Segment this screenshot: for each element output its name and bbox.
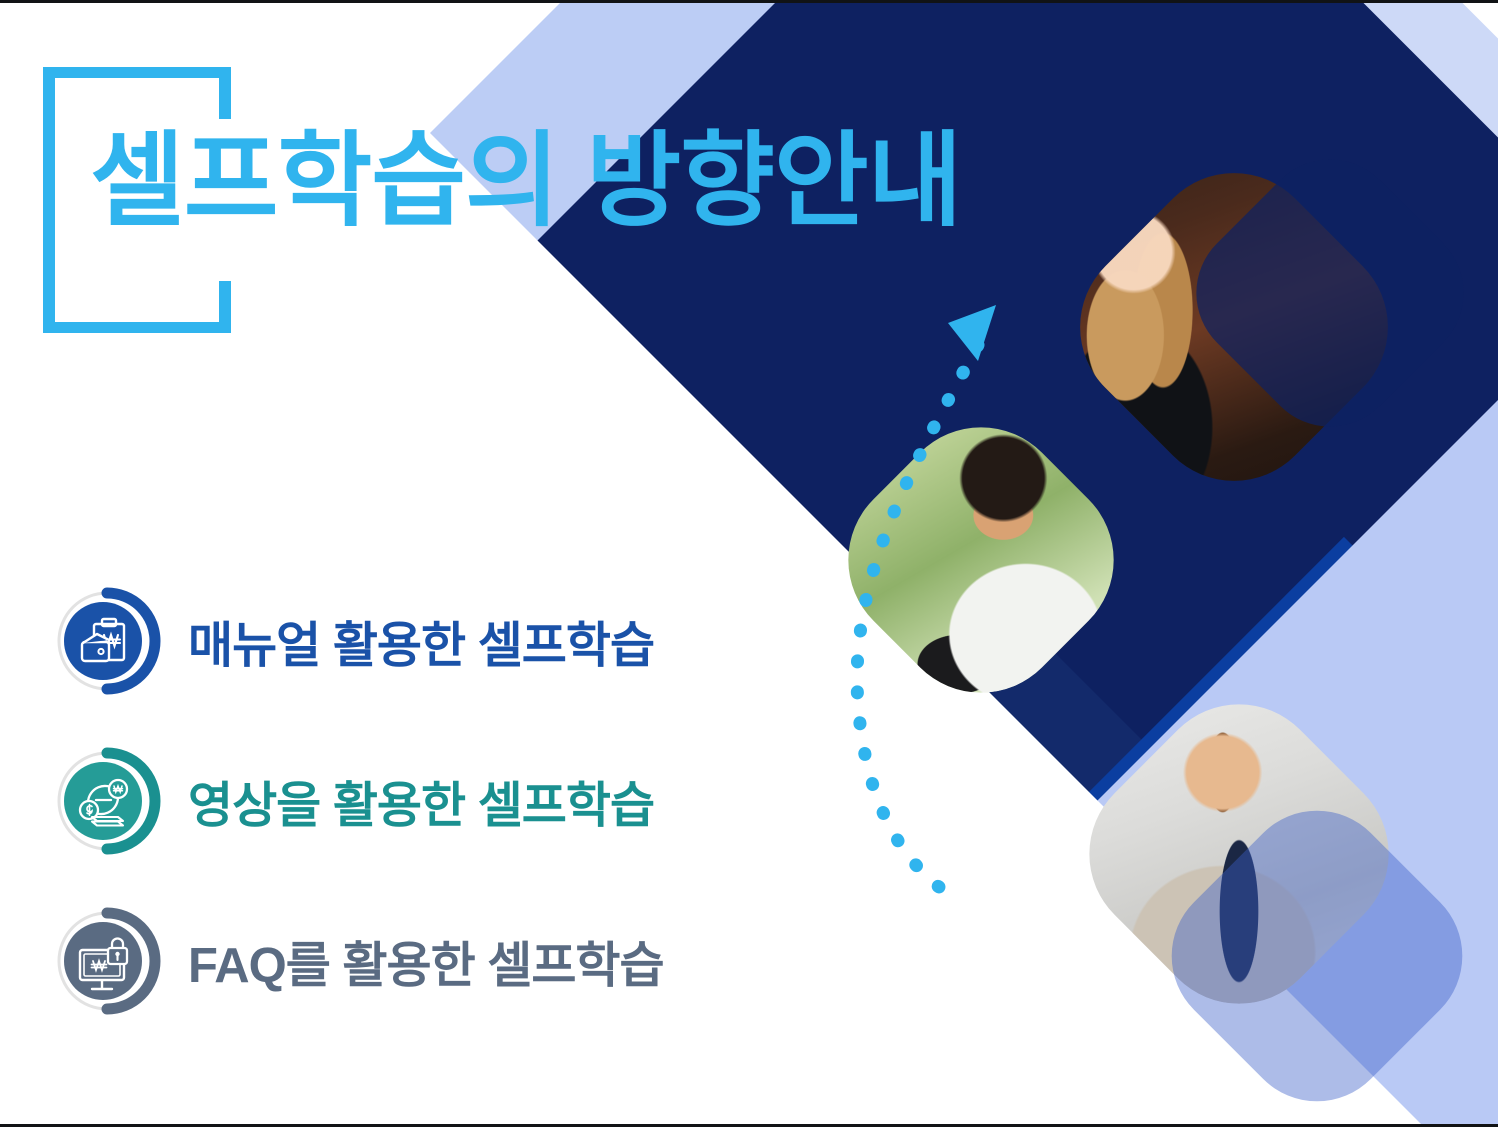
- slide-canvas: 셀프학습의 방향안내: [0, 0, 1498, 1127]
- money-exchange-coins-icon: [52, 746, 162, 856]
- page-title: 셀프학습의 방향안내: [90, 125, 961, 236]
- list-item-label: 영상을 활용한 셀프학습: [188, 766, 654, 837]
- list-item[interactable]: 영상을 활용한 셀프학습: [52, 741, 812, 861]
- bracket-bottom-bar: [43, 322, 231, 333]
- list-item[interactable]: 매뉴얼 활용한 셀프학습: [52, 581, 812, 701]
- dotted-curved-arrow: [800, 283, 1050, 933]
- list-item-label: FAQ를 활용한 셀프학습: [188, 926, 664, 997]
- bullet-list: 매뉴얼 활용한 셀프학습: [52, 581, 812, 1061]
- photo-woman-laptop: [1044, 137, 1423, 516]
- arrow-head-icon: [948, 305, 996, 361]
- bracket-bottom-nub: [219, 281, 231, 333]
- band-blue-diagonal-top: [1299, 3, 1498, 880]
- bracket-left-bar: [43, 67, 55, 333]
- photo-businessman: [1054, 669, 1425, 1040]
- bracket-top-nub: [219, 67, 231, 119]
- list-item-label: 매뉴얼 활용한 셀프학습: [188, 606, 654, 677]
- list-item[interactable]: FAQ를 활용한 셀프학습: [52, 901, 812, 1021]
- bracket-top-bar: [43, 67, 231, 78]
- monitor-lock-won-icon: [52, 906, 162, 1016]
- clipboard-wallet-won-icon: [52, 586, 162, 696]
